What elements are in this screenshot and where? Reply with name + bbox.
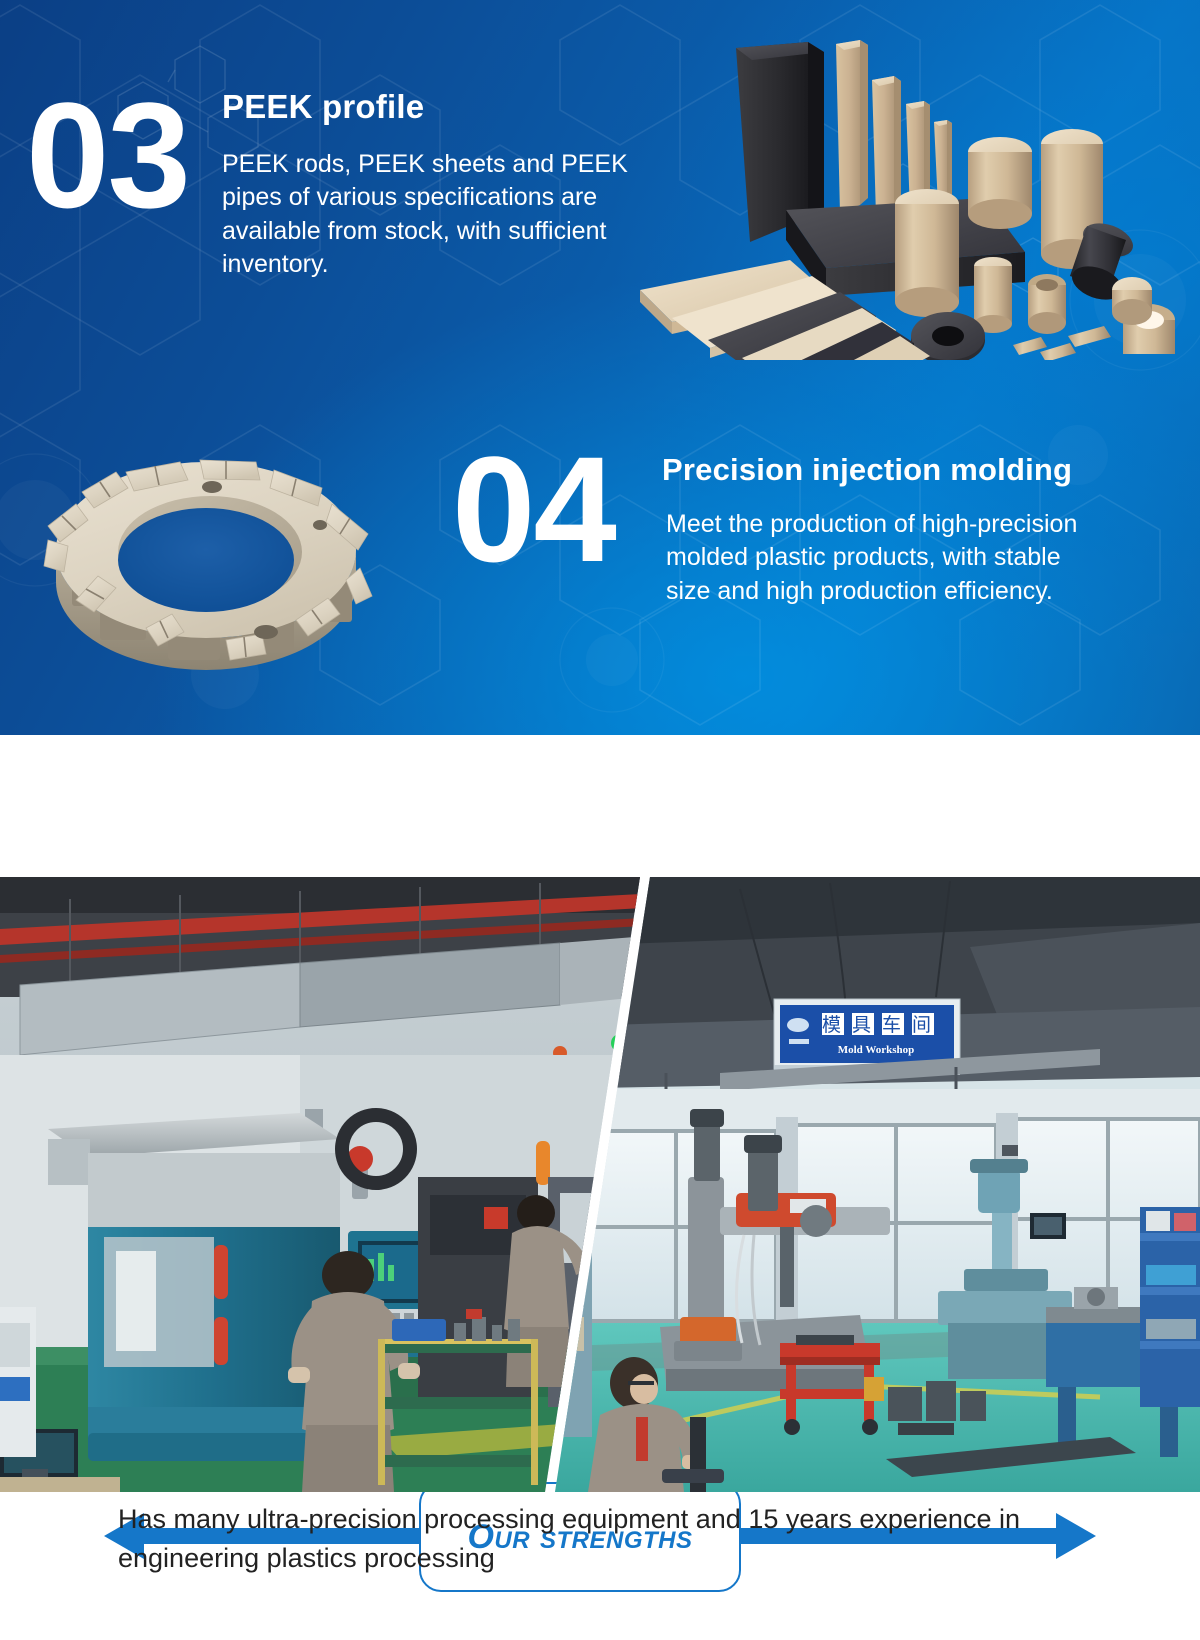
item-03-description: PEEK rods, PEEK sheets and PEEK pipes of… [222,148,652,281]
svg-text:Mold Workshop: Mold Workshop [838,1044,915,1056]
mold-workshop-photo: 模具 车间 Mold Workshop [540,877,1200,1492]
svg-text:模: 模 [822,1014,841,1036]
page-root: 03 PEEK profile PEEK rods, PEEK sheets a… [0,0,1200,1640]
svg-text:车: 车 [882,1014,901,1036]
svg-text:间: 间 [912,1014,931,1036]
peek-gear-ring-photo [20,400,420,690]
item-03-title: PEEK profile [222,88,424,126]
item-04-number: 04 [452,440,615,578]
item-03-number: 03 [26,86,189,224]
item-04-title: Precision injection molding [662,452,1072,488]
peek-profile-products-photo [600,0,1200,360]
hero-blue-panel: 03 PEEK profile PEEK rods, PEEK sheets a… [0,0,1200,735]
factory-caption: Has many ultra-precision processing equi… [118,1500,1078,1578]
factory-photo-pair: 模具 车间 Mold Workshop [0,877,1200,1492]
svg-text:具: 具 [852,1014,871,1036]
our-strengths-banner: Our strengths [0,735,1200,877]
cnc-machining-workshop-photo [0,877,660,1492]
item-04-description: Meet the production of high-precision mo… [666,508,1096,608]
